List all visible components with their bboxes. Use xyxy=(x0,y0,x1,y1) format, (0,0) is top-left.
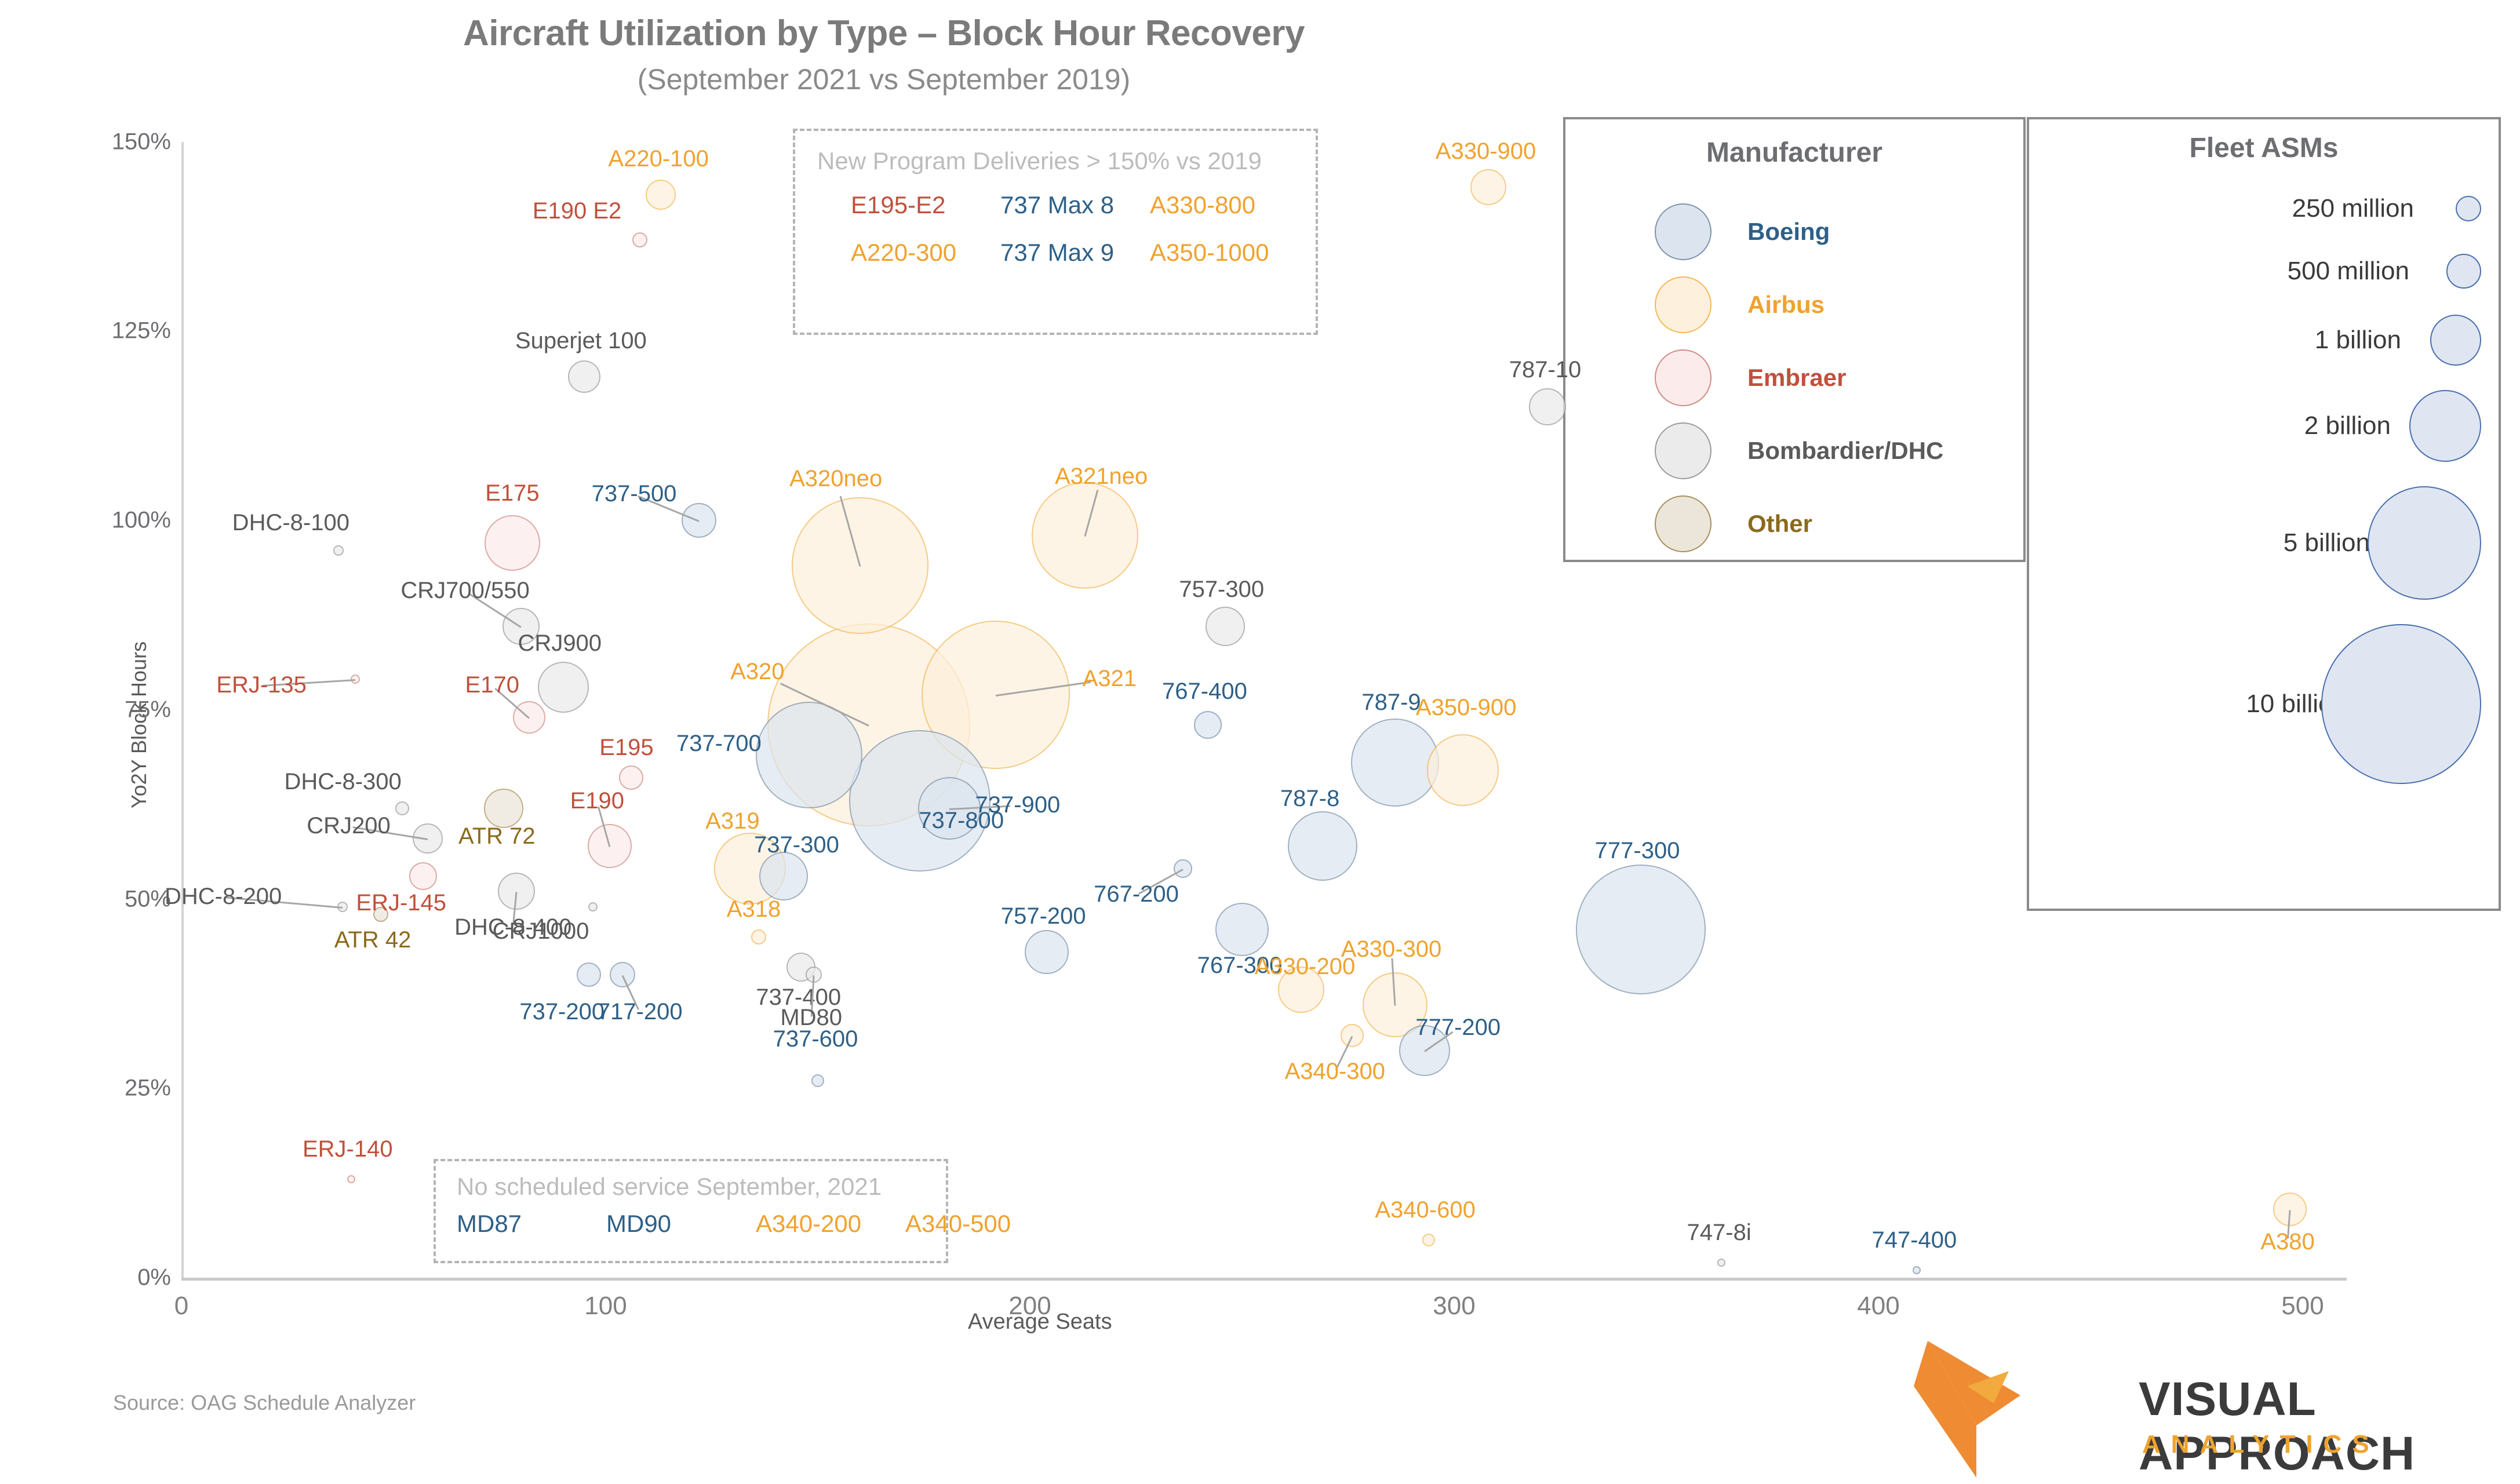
point-label-a380: A380 xyxy=(2260,1230,2314,1253)
asm-legend-label: 5 billion xyxy=(2126,528,2370,557)
bubble-erj-140[interactable] xyxy=(347,1175,355,1183)
legend-item-airbus[interactable]: Airbus xyxy=(1565,268,2023,341)
annotation-no-service-title: No scheduled service September, 2021 xyxy=(457,1173,946,1201)
annotation-no-service: No scheduled service September, 2021 MD8… xyxy=(434,1159,948,1263)
bubble-dhc-8-300[interactable] xyxy=(395,801,409,815)
point-label-erj-140: ERJ-140 xyxy=(303,1137,393,1161)
fleet-asm-legend-title: Fleet ASMs xyxy=(2029,132,2499,164)
point-label-737-300: 737-300 xyxy=(754,833,839,856)
bubble-767-400[interactable] xyxy=(1194,711,1222,739)
legend-swatch-airbus xyxy=(1655,276,1711,333)
bubble-e175[interactable] xyxy=(485,515,540,571)
point-label-a321: A321 xyxy=(1083,667,1137,690)
point-label-atr-42: ATR 42 xyxy=(334,928,411,951)
bubble-erj-145[interactable] xyxy=(409,862,437,890)
point-label-747-8i: 747-8i xyxy=(1687,1221,1751,1244)
point-label-crj700-550: CRJ700/550 xyxy=(400,579,529,602)
point-label-a320neo: A320neo xyxy=(789,467,882,490)
annotation-item-a220-300: A220-300 xyxy=(851,239,974,267)
bubble-a340-300[interactable] xyxy=(1341,1024,1364,1047)
point-label-a350-900: A350-900 xyxy=(1416,696,1516,719)
legend-swatch-boeing xyxy=(1655,203,1711,260)
y-tick-labels: 0%25%50%75%100%125%150% xyxy=(0,0,171,1484)
chart-subtitle: (September 2021 vs September 2019) xyxy=(0,63,1768,96)
bubble-737-700[interactable] xyxy=(756,702,862,808)
asm-legend-item: 500 million xyxy=(2029,245,2481,298)
x-tick-500: 500 xyxy=(2281,1292,2324,1321)
legend-label-other: Other xyxy=(1747,510,1812,538)
annotation-item-a330-800: A330-800 xyxy=(1150,191,1273,219)
y-tick-100pct: 100% xyxy=(112,508,171,534)
point-label-a220-100: A220-100 xyxy=(608,147,708,170)
bubble-757-300[interactable] xyxy=(1206,607,1245,646)
bubble-787-8[interactable] xyxy=(1288,811,1357,881)
asm-legend-bubble xyxy=(2321,624,2481,784)
bubble-757-200[interactable] xyxy=(1025,930,1069,974)
point-label-737-900: 737-900 xyxy=(975,793,1061,816)
point-label-dhc-8-100: DHC-8-100 xyxy=(232,511,349,534)
bubble-a330-900[interactable] xyxy=(1470,169,1506,205)
y-tick-25pct: 25% xyxy=(125,1075,171,1102)
logo-mark-icon xyxy=(1907,1333,2127,1478)
point-label-747-400: 747-400 xyxy=(1871,1228,1957,1252)
point-label-787-8: 787-8 xyxy=(1280,787,1339,810)
legend-item-boeing[interactable]: Boeing xyxy=(1565,195,2023,268)
asm-legend-label: 10 billion xyxy=(2103,690,2347,719)
point-label-superjet-100: Superjet 100 xyxy=(515,329,647,352)
chart-title: Aircraft Utilization by Type – Block Hou… xyxy=(0,13,1768,54)
logo-wordmark: VISUAL APPROACH xyxy=(2139,1372,2498,1481)
point-label-737-200: 737-200 xyxy=(519,1000,604,1023)
asm-legend-label: 1 billion xyxy=(2158,326,2401,355)
point-label-e195: E195 xyxy=(599,736,653,759)
point-label-a340-600: A340-600 xyxy=(1375,1198,1475,1222)
x-tick-0: 0 xyxy=(174,1292,188,1321)
point-label-e175: E175 xyxy=(485,482,539,505)
asm-legend-bubble xyxy=(2409,390,2481,462)
bubble-dhc-8-400[interactable] xyxy=(498,873,535,910)
asm-legend-item: 10 billion xyxy=(2029,617,2481,792)
x-tick-100: 100 xyxy=(584,1292,627,1321)
y-tick-50pct: 50% xyxy=(125,886,171,912)
point-label-a330-900: A330-900 xyxy=(1436,140,1536,163)
point-label-a320: A320 xyxy=(730,660,784,683)
point-label-e170: E170 xyxy=(465,673,519,697)
point-label-757-300: 757-300 xyxy=(1179,578,1264,601)
annotation-item-737-max-8: 737 Max 8 xyxy=(1000,191,1123,219)
point-label-erj-145: ERJ-145 xyxy=(356,891,446,914)
asm-legend-item: 1 billion xyxy=(2029,307,2481,373)
point-label-757-200: 757-200 xyxy=(1001,905,1086,928)
point-label-e190: E190 xyxy=(570,789,624,812)
point-label-a330-300: A330-300 xyxy=(1341,938,1441,961)
manufacturer-legend-title: Manufacturer xyxy=(1565,137,2023,169)
point-label-crj200: CRJ200 xyxy=(307,814,391,837)
legend-item-other[interactable]: Other xyxy=(1565,487,2023,560)
asm-legend-bubble xyxy=(2430,315,2481,366)
asm-legend-label: 250 million xyxy=(2171,194,2414,223)
bubble-superjet-100[interactable] xyxy=(568,360,600,393)
bubble-767-300[interactable] xyxy=(1215,903,1269,956)
logo-subwordmark: ANALYTICS xyxy=(2142,1430,2380,1459)
bubble-777-300[interactable] xyxy=(1576,865,1706,994)
y-tick-75pct: 75% xyxy=(125,697,171,723)
annotation-new-programs: New Program Deliveries > 150% vs 2019 E1… xyxy=(793,129,1318,335)
asm-legend-bubble xyxy=(2446,254,2481,289)
point-label-erj-135: ERJ-135 xyxy=(216,673,307,697)
point-label-787-10: 787-10 xyxy=(1509,358,1582,381)
point-label-767-200: 767-200 xyxy=(1094,883,1179,906)
point-label-e190-e2: E190 E2 xyxy=(533,199,621,223)
bubble-crj1000[interactable] xyxy=(588,902,598,911)
bubble-e190-e2[interactable] xyxy=(632,232,647,247)
fleet-asm-legend: Fleet ASMs 250 million500 million1 billi… xyxy=(2027,117,2501,911)
bubble-737-300[interactable] xyxy=(759,852,808,900)
bubble-a350-900[interactable] xyxy=(1427,734,1499,806)
point-label-717-200: 717-200 xyxy=(598,1000,683,1023)
bubble-dhc-8-100[interactable] xyxy=(333,545,344,556)
legend-item-bomb[interactable]: Bombardier/DHC xyxy=(1565,414,2023,487)
x-tick-400: 400 xyxy=(1857,1292,1899,1321)
legend-label-airbus: Airbus xyxy=(1747,291,1825,319)
annotation-item-e195-e2: E195-E2 xyxy=(851,191,974,219)
annotation-row: A220-300737 Max 9A350-1000 xyxy=(851,239,1316,267)
bubble-787-10[interactable] xyxy=(1529,388,1566,425)
point-label-a340-300: A340-300 xyxy=(1285,1060,1385,1083)
bubble-a318[interactable] xyxy=(751,929,766,945)
legend-swatch-other xyxy=(1655,495,1711,552)
point-label-777-200: 777-200 xyxy=(1415,1016,1501,1039)
annotation-item-a350-1000: A350-1000 xyxy=(1150,239,1273,267)
point-label-crj1000: CRJ1000 xyxy=(493,920,589,943)
bubble-atr-72[interactable] xyxy=(484,789,523,828)
point-label-a330-200: A330-200 xyxy=(1255,955,1355,978)
annotation-new-programs-title: New Program Deliveries > 150% vs 2019 xyxy=(817,147,1316,175)
annotation-item-md90: MD90 xyxy=(606,1210,729,1238)
manufacturer-legend: Manufacturer BoeingAirbusEmbraerBombardi… xyxy=(1563,117,2026,562)
point-label-dhc-8-200: DHC-8-200 xyxy=(165,885,282,908)
bubble-787-9[interactable] xyxy=(1351,719,1439,807)
annotation-row: E195-E2737 Max 8A330-800 xyxy=(851,191,1316,219)
legend-swatch-embraer xyxy=(1655,349,1711,406)
y-tick-0pct: 0% xyxy=(137,1265,171,1291)
source-note: Source: OAG Schedule Analyzer xyxy=(113,1391,416,1415)
asm-legend-label: 2 billion xyxy=(2147,411,2391,440)
legend-item-embraer[interactable]: Embraer xyxy=(1565,341,2023,414)
bubble-a340-600[interactable] xyxy=(1422,1234,1435,1246)
bubble-737-600[interactable] xyxy=(811,1074,824,1087)
legend-label-boeing: Boeing xyxy=(1747,218,1830,246)
x-tick-200: 200 xyxy=(1008,1292,1051,1321)
annotation-item-md87: MD87 xyxy=(457,1210,580,1238)
annotation-item-a340-200: A340-200 xyxy=(756,1210,879,1238)
point-label-737-500: 737-500 xyxy=(592,482,677,505)
annotation-item-737-max-9: 737 Max 9 xyxy=(1000,239,1123,267)
y-tick-150pct: 150% xyxy=(112,129,171,155)
bubble-a220-100[interactable] xyxy=(646,180,676,210)
point-label-dhc-8-300: DHC-8-300 xyxy=(284,770,401,793)
bubble-crj900[interactable] xyxy=(538,662,589,713)
point-label-767-400: 767-400 xyxy=(1162,680,1247,703)
y-tick-125pct: 125% xyxy=(112,318,171,344)
x-tick-300: 300 xyxy=(1433,1292,1475,1321)
bubble-737-200[interactable] xyxy=(577,962,601,987)
legend-label-embraer: Embraer xyxy=(1747,364,1846,392)
legend-label-bomb: Bombardier/DHC xyxy=(1747,437,1943,465)
bubble-e195[interactable] xyxy=(619,765,643,790)
asm-legend-item: 2 billion xyxy=(2029,382,2481,469)
annotation-item-a340-500: A340-500 xyxy=(905,1210,1028,1238)
point-label-737-700: 737-700 xyxy=(676,732,762,755)
annotation-row: MD87MD90A340-200A340-500 xyxy=(457,1210,946,1238)
bubble-747-8i[interactable] xyxy=(1717,1259,1725,1267)
bubble-747-400[interactable] xyxy=(1913,1266,1921,1274)
point-label-crj900: CRJ900 xyxy=(518,632,602,655)
point-label-a319: A319 xyxy=(705,810,759,833)
asm-legend-bubble xyxy=(2368,486,2481,600)
asm-legend-bubble xyxy=(2456,196,2481,221)
point-label-737-600: 737-600 xyxy=(773,1027,858,1051)
point-label-a321neo: A321neo xyxy=(1055,465,1148,488)
visual-approach-logo: VISUAL APPROACH ANALYTICS xyxy=(1907,1333,2498,1478)
point-label-777-300: 777-300 xyxy=(1595,839,1680,862)
point-label-a318: A318 xyxy=(727,898,781,921)
asm-legend-item: 5 billion xyxy=(2029,479,2481,607)
asm-legend-item: 250 million xyxy=(2029,182,2481,235)
point-label-787-9: 787-9 xyxy=(1361,691,1421,714)
asm-legend-label: 500 million xyxy=(2166,257,2409,286)
legend-swatch-bomb xyxy=(1655,422,1711,479)
point-label-atr-72: ATR 72 xyxy=(458,825,536,848)
